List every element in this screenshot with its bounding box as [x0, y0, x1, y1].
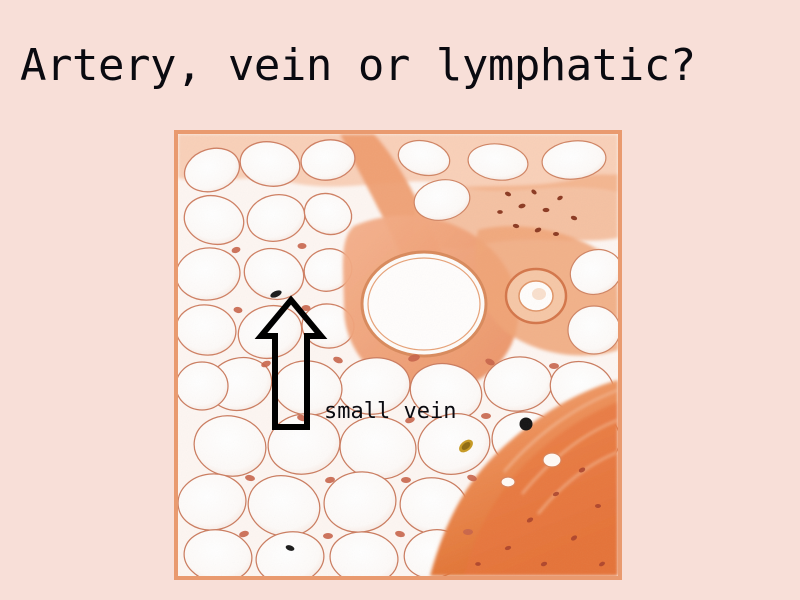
page-title: Artery, vein or lymphatic? [20, 40, 784, 94]
histology-micrograph-image [178, 134, 618, 576]
slide-canvas: Artery, vein or lymphatic? [0, 0, 800, 600]
figure-container: small vein [174, 130, 622, 580]
annotation-label-small-vein: small vein [324, 399, 456, 425]
